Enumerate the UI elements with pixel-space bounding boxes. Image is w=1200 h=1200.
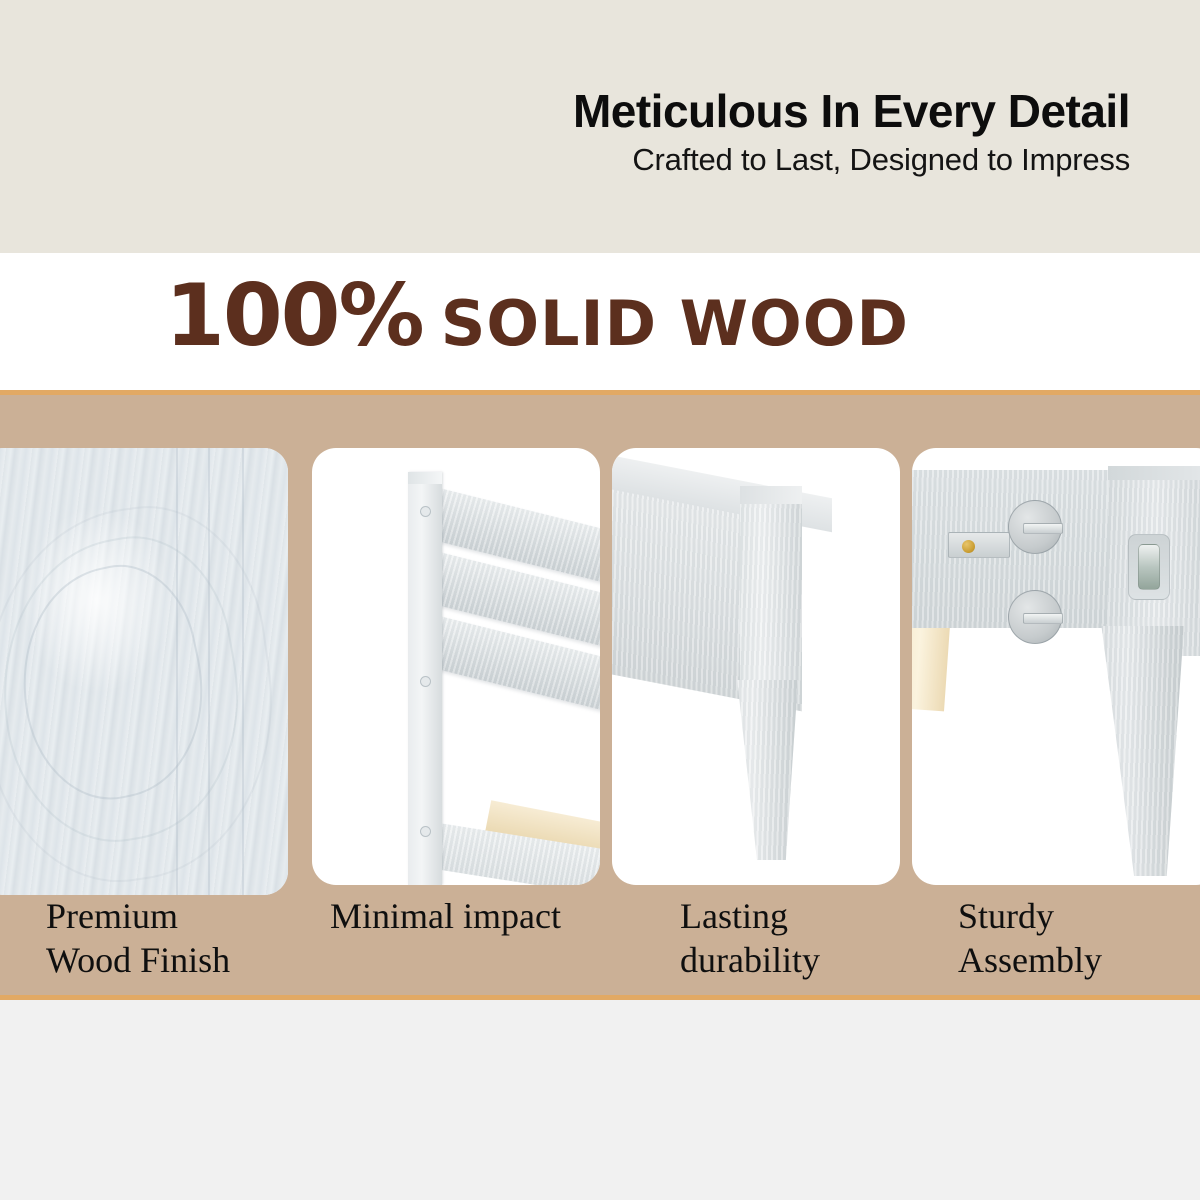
headboard-photo	[312, 448, 600, 885]
cam-lock-disc	[1008, 590, 1062, 644]
cam-lock-disc	[1008, 500, 1062, 554]
grain-streak	[208, 448, 210, 895]
solid-wood-badge: 100% SOLID WOOD	[165, 273, 909, 359]
product-feature-infographic: Meticulous In Every Detail Crafted to La…	[0, 0, 1200, 1200]
tapered-leg	[1088, 626, 1184, 876]
feature-caption-row: Premium Wood Finish Minimal impact Lasti…	[0, 895, 1200, 995]
cam-bolt	[1138, 544, 1160, 590]
metal-bracket	[948, 532, 1010, 558]
corner-post-cap	[740, 486, 802, 504]
wood-grain-photo	[0, 448, 288, 895]
screw-plug-icon	[420, 826, 431, 837]
badge-band: 100% SOLID WOOD	[0, 253, 1200, 390]
screw-plug-icon	[420, 506, 431, 517]
brass-screw-icon	[962, 540, 975, 553]
feature-panel: Premium Wood Finish Minimal impact Lasti…	[0, 390, 1200, 1000]
page-title: Meticulous In Every Detail	[573, 88, 1130, 135]
feature-card-lasting-durability[interactable]	[612, 448, 900, 885]
panel-bottom-accent-line	[0, 995, 1200, 1000]
slat-texture	[1088, 626, 1184, 876]
tapered-leg	[722, 680, 798, 860]
page-subtitle: Crafted to Last, Designed to Impress	[573, 143, 1130, 177]
badge-percent: 100%	[165, 273, 423, 359]
slat-texture	[722, 680, 798, 860]
panel-top-accent-line	[0, 390, 1200, 395]
feature-caption-lasting-durability: Lasting durability	[680, 895, 820, 983]
feature-caption-premium-wood-finish: Premium Wood Finish	[46, 895, 230, 983]
feature-caption-minimal-impact: Minimal impact	[330, 895, 561, 939]
feature-card-premium-wood-finish[interactable]	[0, 448, 288, 895]
grain-streak	[176, 448, 178, 895]
leg-joint-photo	[612, 448, 900, 885]
leg-post-cap	[1108, 466, 1200, 480]
screw-plug-icon	[420, 676, 431, 687]
feature-card-row	[0, 448, 1200, 895]
corner-post	[740, 486, 802, 704]
feature-card-sturdy-assembly[interactable]	[912, 448, 1200, 885]
header-band: Meticulous In Every Detail Crafted to La…	[0, 0, 1200, 253]
feature-caption-sturdy-assembly: Sturdy Assembly	[958, 895, 1102, 983]
header-text-group: Meticulous In Every Detail Crafted to La…	[573, 88, 1130, 177]
slat-texture	[740, 486, 802, 704]
assembly-hardware-photo	[912, 448, 1200, 885]
grain-streak	[242, 448, 244, 895]
badge-material: SOLID WOOD	[441, 293, 909, 355]
headboard-post-cap	[408, 472, 442, 484]
feature-card-minimal-impact[interactable]	[312, 448, 600, 885]
